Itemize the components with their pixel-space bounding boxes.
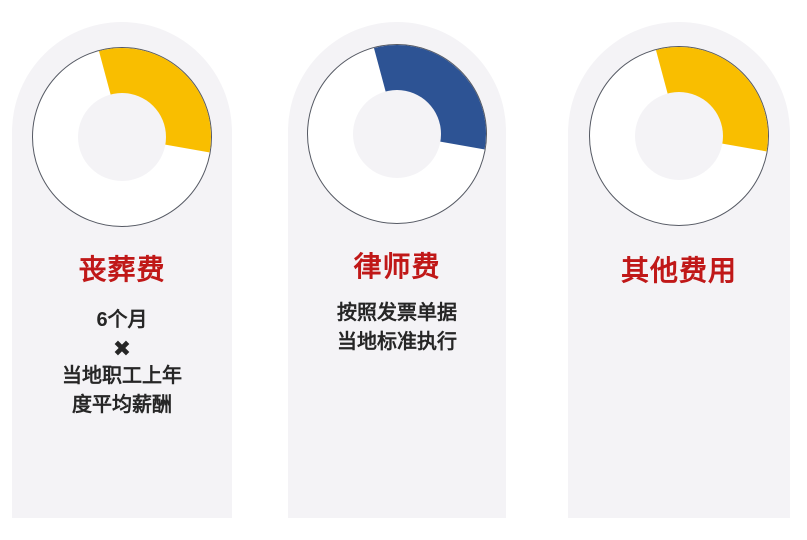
donut-hole bbox=[78, 93, 166, 181]
body-line: 度平均薪酬 bbox=[62, 391, 182, 420]
card-body-text: 按照发票单据 当地标准执行 bbox=[337, 299, 457, 357]
body-line: 6个月 bbox=[62, 306, 182, 335]
body-line: 当地标准执行 bbox=[337, 328, 457, 357]
card-title: 其他费用 bbox=[621, 256, 737, 287]
card-lawyer-fees: 律师费 按照发票单据 当地标准执行 bbox=[288, 22, 506, 518]
card-other-expenses: 其他费用 bbox=[568, 22, 790, 518]
donut-hole bbox=[353, 90, 441, 178]
card-title: 律师费 bbox=[353, 252, 440, 283]
card-title: 丧葬费 bbox=[78, 255, 165, 286]
infographic-board: 丧葬费 6个月 ✖ 当地职工上年 度平均薪酬 律师费 按照发票单据 当地标准执行 bbox=[0, 0, 807, 540]
card-body-text: 6个月 ✖ 当地职工上年 度平均薪酬 bbox=[62, 306, 182, 421]
body-line: 按照发票单据 bbox=[337, 299, 457, 328]
donut-hole bbox=[635, 92, 723, 180]
donut-chart-lawyer-fees bbox=[307, 44, 487, 224]
donut-chart-other-expenses bbox=[589, 46, 769, 226]
body-line: 当地职工上年 bbox=[62, 362, 182, 391]
card-funeral-expenses: 丧葬费 6个月 ✖ 当地职工上年 度平均薪酬 bbox=[12, 22, 232, 518]
multiply-icon: ✖ bbox=[62, 335, 182, 363]
donut-chart-funeral-expenses bbox=[32, 47, 212, 227]
